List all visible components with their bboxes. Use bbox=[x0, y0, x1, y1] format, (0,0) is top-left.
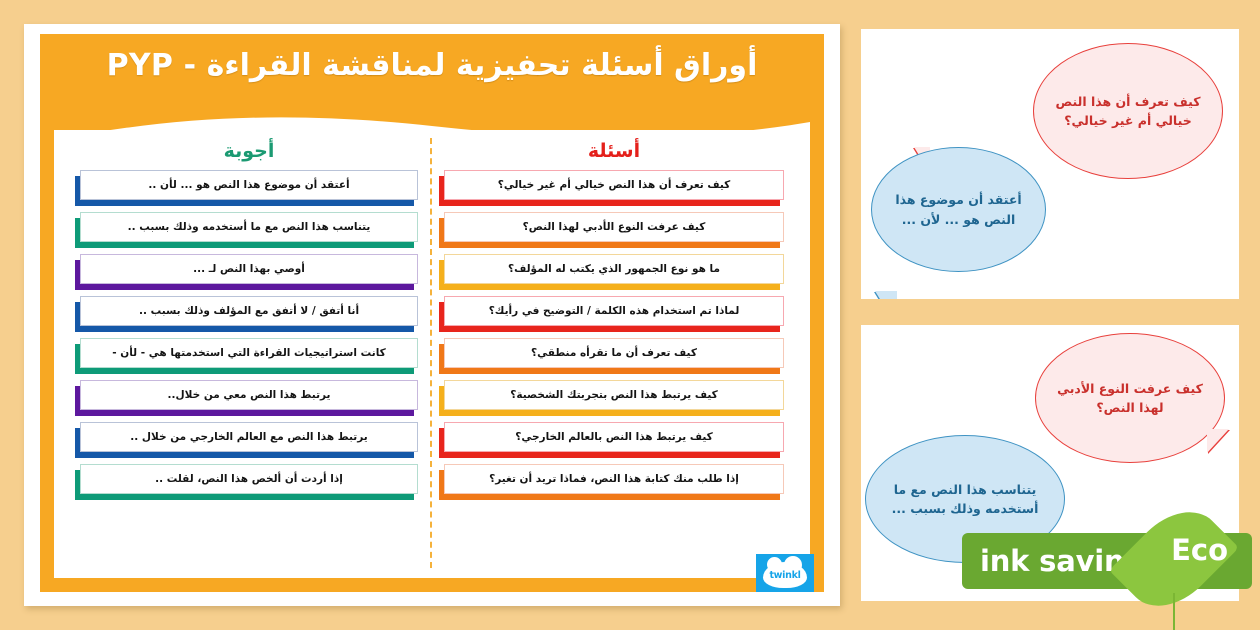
question-strip: كيف يرتبط هذا النص بالعالم الخارجي؟ bbox=[444, 422, 784, 452]
answer-strip: يرتبط هذا النص مع العالم الخارجي من خلال… bbox=[80, 422, 418, 452]
answer-strip-text: إذا أردت أن ألخص هذا النص، لقلت .. bbox=[80, 464, 418, 494]
answer-speech-bubble-1: أعتقد أن موضوع هذا النص هو ... لأن ... bbox=[871, 147, 1046, 272]
question-strip: ما هو نوع الجمهور الذي يكتب له المؤلف؟ bbox=[444, 254, 784, 284]
questions-list: كيف تعرف أن هذا النص خيالي أم غير خيالي؟… bbox=[444, 170, 784, 494]
question-strip-text: كيف يرتبط هذا النص بتجربتك الشخصية؟ bbox=[444, 380, 784, 410]
answers-list: أعتقد أن موضوع هذا النص هو ... لأن ..يتن… bbox=[80, 170, 418, 494]
question-bubble-tail-2 bbox=[1207, 429, 1233, 453]
answers-column-header: أجوبة bbox=[80, 142, 418, 161]
worksheet-preview-card[interactable]: أوراق أسئلة تحفيزية لمناقشة القراءة - PY… bbox=[24, 24, 840, 606]
answer-strip: إذا أردت أن ألخص هذا النص، لقلت .. bbox=[80, 464, 418, 494]
leaf-stem-icon bbox=[1173, 593, 1175, 630]
answer-strip: كانت استراتيجيات القراءة التي استخدمتها … bbox=[80, 338, 418, 368]
question-strip: كيف عرفت النوع الأدبي لهذا النص؟ bbox=[444, 212, 784, 242]
answer-bubble-text-2: يتناسب هذا النص مع ما أستخدمه وذلك بسبب … bbox=[880, 480, 1050, 519]
answer-bubble-text-1: أعتقد أن موضوع هذا النص هو ... لأن ... bbox=[886, 190, 1031, 229]
question-strip-text: ما هو نوع الجمهور الذي يكتب له المؤلف؟ bbox=[444, 254, 784, 284]
question-strip: إذا طلب منك كتابة هذا النص، فماذا تريد أ… bbox=[444, 464, 784, 494]
answer-strip: أوصي بهذا النص لـ ... bbox=[80, 254, 418, 284]
question-strip-text: كيف تعرف أن هذا النص خيالي أم غير خيالي؟ bbox=[444, 170, 784, 200]
answer-strip: أنا أتفق / لا أتفق مع المؤلف وذلك بسبب .… bbox=[80, 296, 418, 326]
question-strip-text: كيف عرفت النوع الأدبي لهذا النص؟ bbox=[444, 212, 784, 242]
worksheet-title: أوراق أسئلة تحفيزية لمناقشة القراءة - PY… bbox=[40, 48, 824, 83]
question-bubble-text-1: كيف تعرف أن هذا النص خيالي أم غير خيالي؟ bbox=[1048, 92, 1208, 131]
question-strip: كيف يرتبط هذا النص بتجربتك الشخصية؟ bbox=[444, 380, 784, 410]
question-speech-bubble-1: كيف تعرف أن هذا النص خيالي أم غير خيالي؟ bbox=[1033, 43, 1223, 179]
question-strip: لماذا تم استخدام هذه الكلمة / التوضيح في… bbox=[444, 296, 784, 326]
answer-strip-text: أنا أتفق / لا أتفق مع المؤلف وذلك بسبب .… bbox=[80, 296, 418, 326]
questions-column-header: أسئلة bbox=[444, 142, 784, 161]
answer-strip-text: أعتقد أن موضوع هذا النص هو ... لأن .. bbox=[80, 170, 418, 200]
question-strip-text: كيف يرتبط هذا النص بالعالم الخارجي؟ bbox=[444, 422, 784, 452]
answer-bubble-tail-1 bbox=[875, 291, 897, 308]
answer-strip-text: أوصي بهذا النص لـ ... bbox=[80, 254, 418, 284]
twinkl-wordmark: twinkl bbox=[769, 570, 800, 581]
answer-strip-text: يرتبط هذا النص معي من خلال.. bbox=[80, 380, 418, 410]
worksheet-orange-frame: أوراق أسئلة تحفيزية لمناقشة القراءة - PY… bbox=[40, 34, 824, 592]
cloud-icon: twinkl bbox=[763, 562, 807, 588]
answer-strip: يرتبط هذا النص معي من خلال.. bbox=[80, 380, 418, 410]
ink-saving-eco-badge: ink saving Eco bbox=[962, 533, 1252, 589]
preview-panel-1[interactable]: كيف تعرف أن هذا النص خيالي أم غير خيالي؟… bbox=[852, 20, 1248, 308]
question-strip: كيف تعرف أن ما تقرأه منطقي؟ bbox=[444, 338, 784, 368]
question-strip-text: كيف تعرف أن ما تقرأه منطقي؟ bbox=[444, 338, 784, 368]
answer-strip-text: يرتبط هذا النص مع العالم الخارجي من خلال… bbox=[80, 422, 418, 452]
question-strip-text: لماذا تم استخدام هذه الكلمة / التوضيح في… bbox=[444, 296, 784, 326]
questions-column: أسئلة كيف تعرف أن هذا النص خيالي أم غير … bbox=[432, 138, 796, 568]
prompt-columns: أسئلة كيف تعرف أن هذا النص خيالي أم غير … bbox=[54, 130, 810, 578]
answer-strip: أعتقد أن موضوع هذا النص هو ... لأن .. bbox=[80, 170, 418, 200]
worksheet-content-area: أسئلة كيف تعرف أن هذا النص خيالي أم غير … bbox=[54, 130, 810, 578]
eco-badge-word: Eco bbox=[1171, 533, 1228, 567]
question-strip-text: إذا طلب منك كتابة هذا النص، فماذا تريد أ… bbox=[444, 464, 784, 494]
question-bubble-text-2: كيف عرفت النوع الأدبي لهذا النص؟ bbox=[1050, 379, 1210, 418]
answers-column: أجوبة أعتقد أن موضوع هذا النص هو ... لأن… bbox=[68, 138, 432, 568]
answer-strip: يتناسب هذا النص مع ما أستخدمه وذلك بسبب … bbox=[80, 212, 418, 242]
answer-strip-text: كانت استراتيجيات القراءة التي استخدمتها … bbox=[80, 338, 418, 368]
question-speech-bubble-2: كيف عرفت النوع الأدبي لهذا النص؟ bbox=[1035, 333, 1225, 463]
question-strip: كيف تعرف أن هذا النص خيالي أم غير خيالي؟ bbox=[444, 170, 784, 200]
twinkl-logo: twinkl bbox=[756, 554, 814, 592]
answer-strip-text: يتناسب هذا النص مع ما أستخدمه وذلك بسبب … bbox=[80, 212, 418, 242]
